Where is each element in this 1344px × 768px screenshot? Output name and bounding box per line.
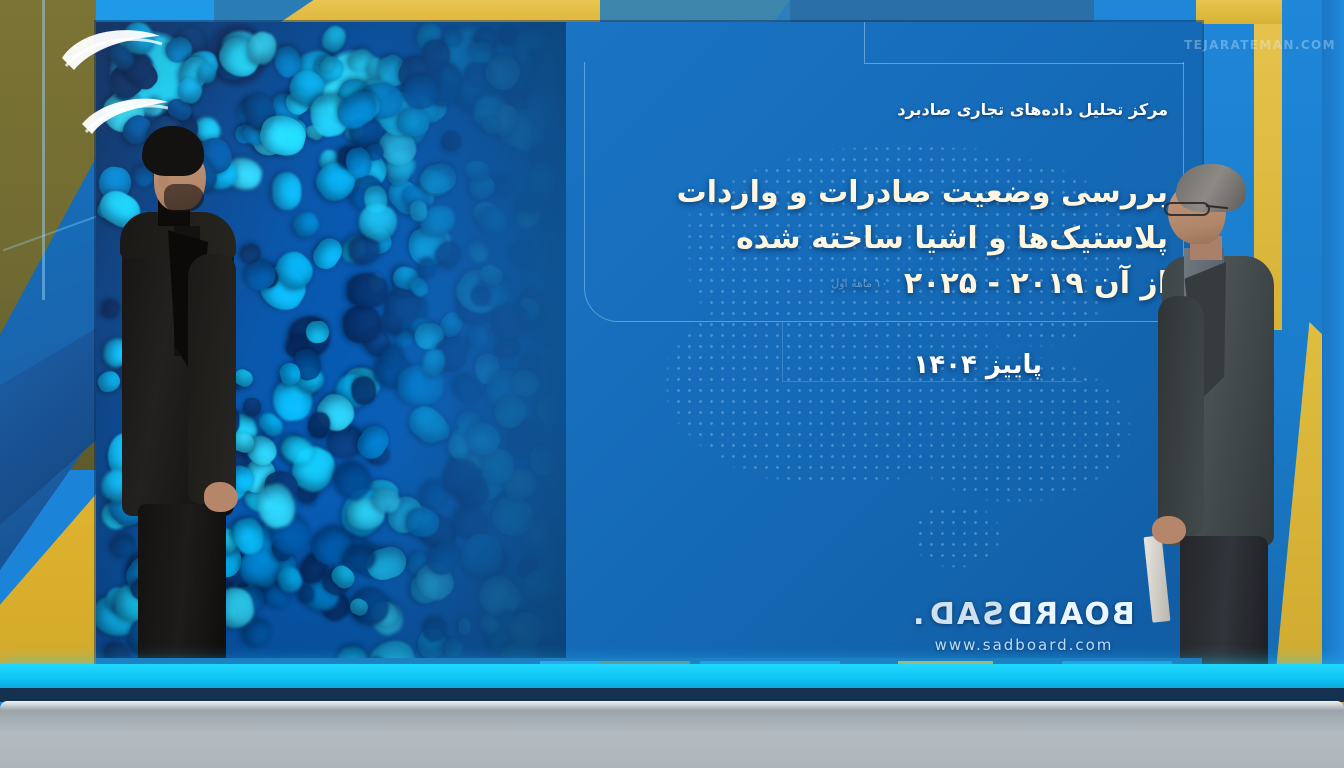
brand-mark-left: SAD [928,597,1004,632]
slide-title-line-1: بررسی وضعیت صادرات و واردات [608,170,1168,216]
left-presenter-arm [188,254,236,504]
led-light-strip [0,664,1344,690]
right-guest [1150,164,1282,724]
studio-floor [0,710,1344,768]
right-guest-arm [1158,296,1204,536]
brand-website-url: www.sadboard.com [874,636,1174,654]
brand-wordmark: . SAD BOARD [874,597,1174,632]
slide-subtitle-season: پاییز ۱۴۰۴ [782,350,1042,380]
brand-mark-right: BOARD [1006,597,1135,632]
slide-title-ghost-note: ۱۰ ماهه اول [831,277,887,290]
slide-title-line-3: از آن ۲۰۱۹ - ۲۰۲۵ ۱۰ ماهه اول [608,261,1168,307]
channel-watermark: TEJARATEMAN.COM [1184,38,1336,52]
right-guest-hand [1152,516,1186,544]
glasses-icon [1164,202,1210,216]
slide-title-line-2: پلاستیک‌ها و اشیا ساخته شده [608,216,1168,262]
left-presenter-beard [164,184,204,212]
wall-right-gold-top [1196,0,1282,24]
wall-accent-line-vertical [42,0,45,300]
wall-right-edge [1322,0,1344,700]
left-presenter [112,126,244,722]
broadcast-frame: مرکز تحلیل داده‌های تجاری صادبرد بررسی و… [0,0,1344,768]
presentation-slide: مرکز تحلیل داده‌های تجاری صادبرد بررسی و… [566,22,1202,672]
slide-title: بررسی وضعیت صادرات و واردات پلاستیک‌ها و… [608,170,1168,307]
left-presenter-ear [158,174,169,188]
left-presenter-hand [204,482,238,512]
slide-title-line-3-text: از آن ۲۰۱۹ - ۲۰۲۵ [904,266,1168,301]
left-presenter-hair [142,126,204,176]
brand-dot-icon: . [913,597,926,632]
stage-shadow-gap [0,688,1344,702]
eyebrow-frame [864,22,1184,64]
video-wall-screen: مرکز تحلیل داده‌های تجاری صادبرد بررسی و… [96,22,1202,672]
brand-logo: . SAD BOARD www.sadboard.com [874,597,1174,654]
slide-eyebrow-organization: مرکز تحلیل داده‌های تجاری صادبرد [868,100,1168,119]
